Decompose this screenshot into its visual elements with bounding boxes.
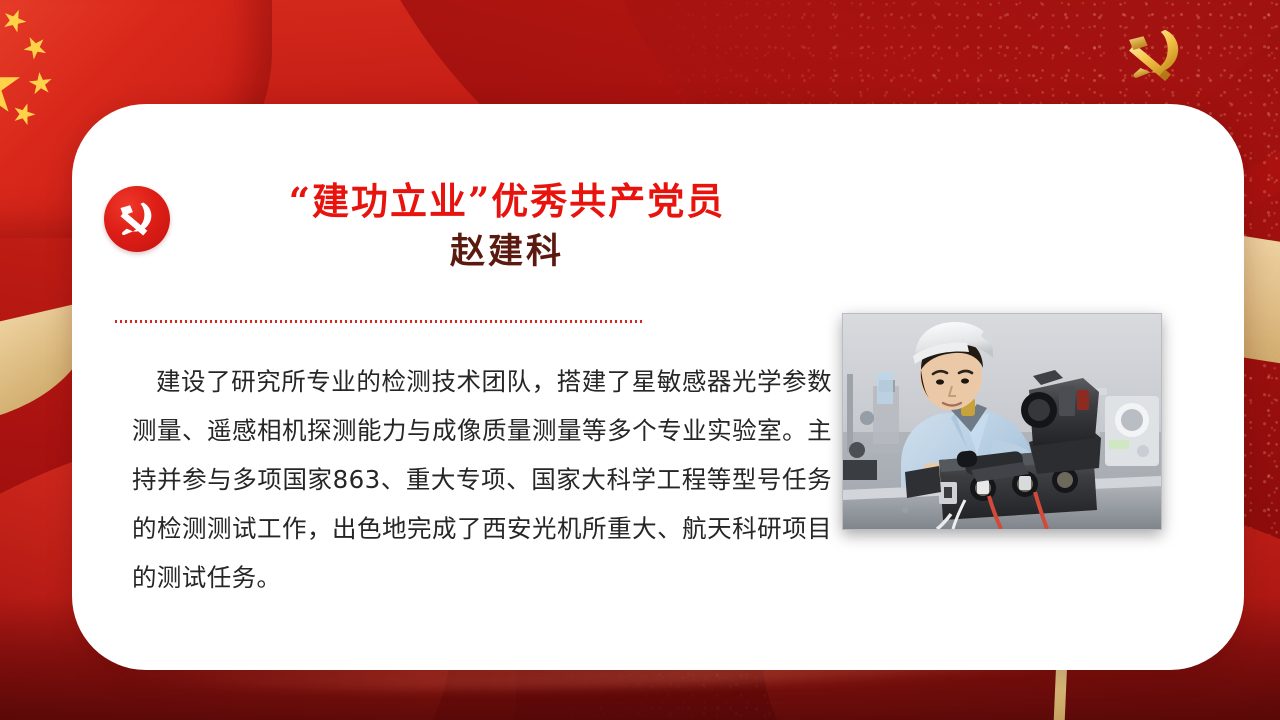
flag-star-small-4 <box>10 100 38 128</box>
party-emblem-gold-icon <box>1118 24 1192 86</box>
flag-star-small-1 <box>0 6 29 36</box>
person-name: 赵建科 <box>188 233 826 272</box>
content-card: “建功立业”优秀共产党员 赵建科 建设了研究所专业的检测技术团队，搭建了星敏感器… <box>72 104 1244 670</box>
dotted-divider <box>115 320 643 323</box>
flag-star-large <box>0 56 20 116</box>
page-title: “建功立业”优秀共产党员 <box>188 180 826 224</box>
slide-root: “建功立业”优秀共产党员 赵建科 建设了研究所专业的检测技术团队，搭建了星敏感器… <box>0 0 1280 720</box>
hammer-sickle-icon <box>104 186 170 252</box>
flag-star-small-2 <box>19 31 52 64</box>
flag-star-small-3 <box>28 71 53 96</box>
card-header: “建功立业”优秀共产党员 赵建科 <box>104 180 844 271</box>
title-block: “建功立业”优秀共产党员 赵建科 <box>188 180 844 271</box>
person-photo <box>842 313 1162 530</box>
body-paragraph: 建设了研究所专业的检测技术团队，搭建了星敏感器光学参数测量、遥感相机探测能力与成… <box>132 357 832 602</box>
